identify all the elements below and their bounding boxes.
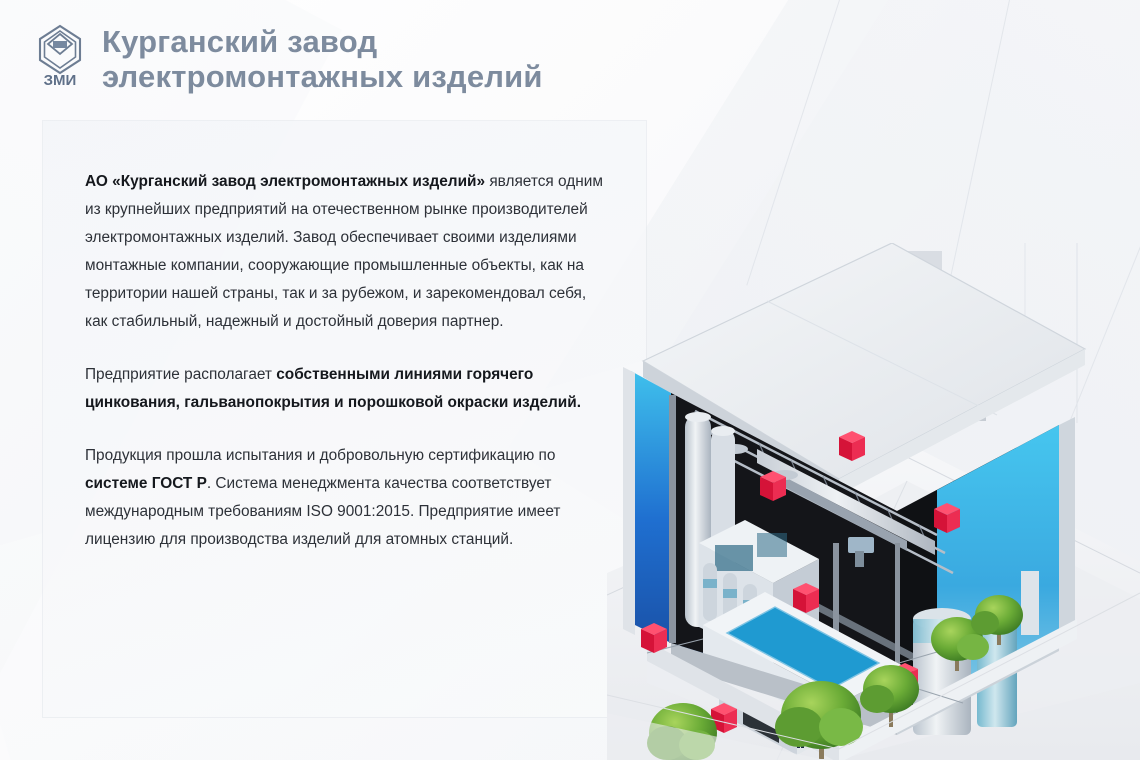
slide-header: ЗМИ Курганский завод электромонтажных из…: [0, 0, 543, 94]
paragraph-certification-prefix: Продукция прошла испытания и добровольну…: [85, 447, 555, 464]
page-title-line1: Курганский завод: [102, 24, 377, 59]
zmi-diamond-emblem-icon: ЗМИ: [36, 24, 84, 86]
slide-root: ЗМИ Курганский завод электромонтажных из…: [0, 0, 1140, 760]
paragraph-certification: Продукция прошла испытания и добровольну…: [85, 442, 605, 554]
isometric-factory-cutaway-illustration: [607, 243, 1140, 760]
gost-highlight: системе ГОСТ Р: [85, 475, 207, 492]
content-copy: АО «Курганский завод электромонтажных из…: [85, 168, 605, 554]
paragraph-capabilities-prefix: Предприятие располагает: [85, 366, 276, 383]
svg-text:ЗМИ: ЗМИ: [44, 72, 77, 86]
paragraph-capabilities: Предприятие располагает собственными лин…: [85, 361, 605, 417]
paragraph-about-rest: является одним из крупнейших предприятий…: [85, 173, 603, 330]
company-legal-name: АО «Курганский завод электромонтажных из…: [85, 173, 485, 190]
page-title-line2: электромонтажных изделий: [102, 59, 543, 94]
paragraph-about: АО «Курганский завод электромонтажных из…: [85, 168, 605, 336]
page-title: Курганский завод электромонтажных издели…: [102, 18, 543, 94]
